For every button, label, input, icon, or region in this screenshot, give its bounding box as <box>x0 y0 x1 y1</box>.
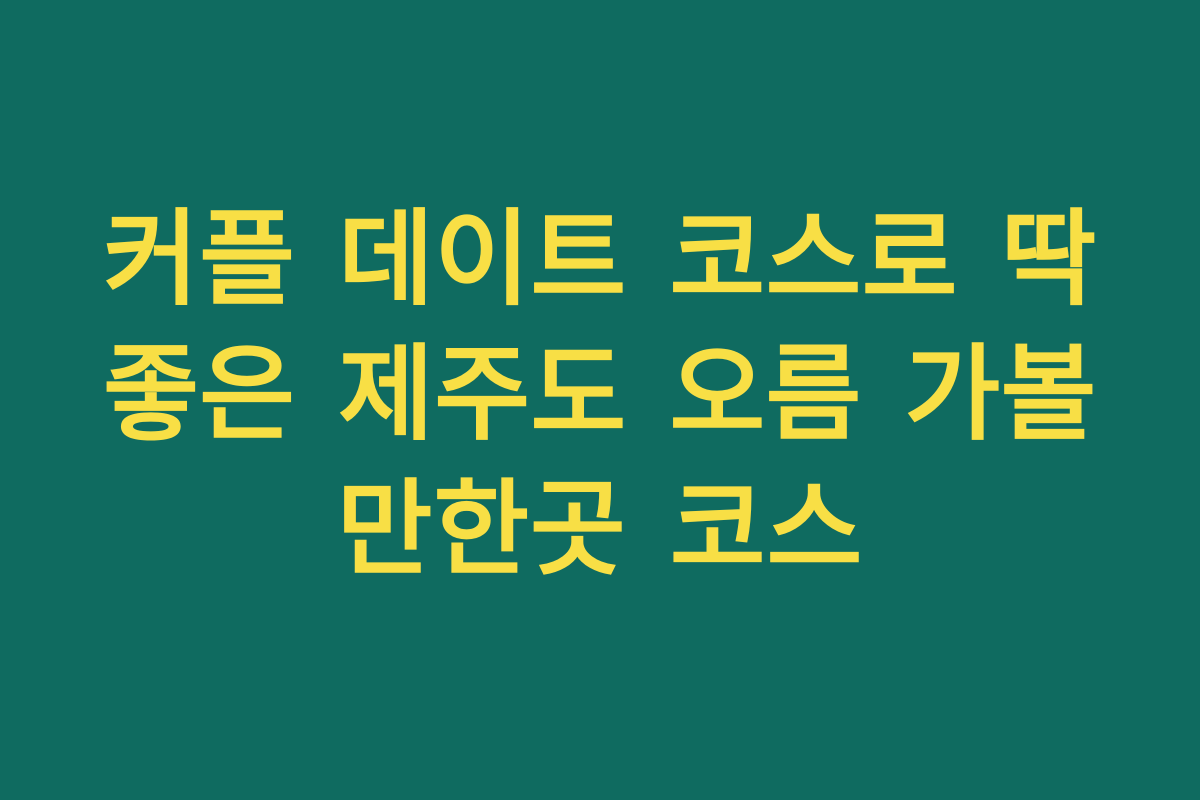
headline-line-3: 만한곳 코스 <box>70 462 1130 597</box>
headline-line-2: 좋은 제주도 오름 가볼 <box>70 327 1130 462</box>
headline-line-1: 커플 데이트 코스로 딱 <box>70 192 1130 327</box>
banner-card: 커플 데이트 코스로 딱 좋은 제주도 오름 가볼 만한곳 코스 <box>0 0 1200 800</box>
headline-block: 커플 데이트 코스로 딱 좋은 제주도 오름 가볼 만한곳 코스 <box>70 192 1130 597</box>
